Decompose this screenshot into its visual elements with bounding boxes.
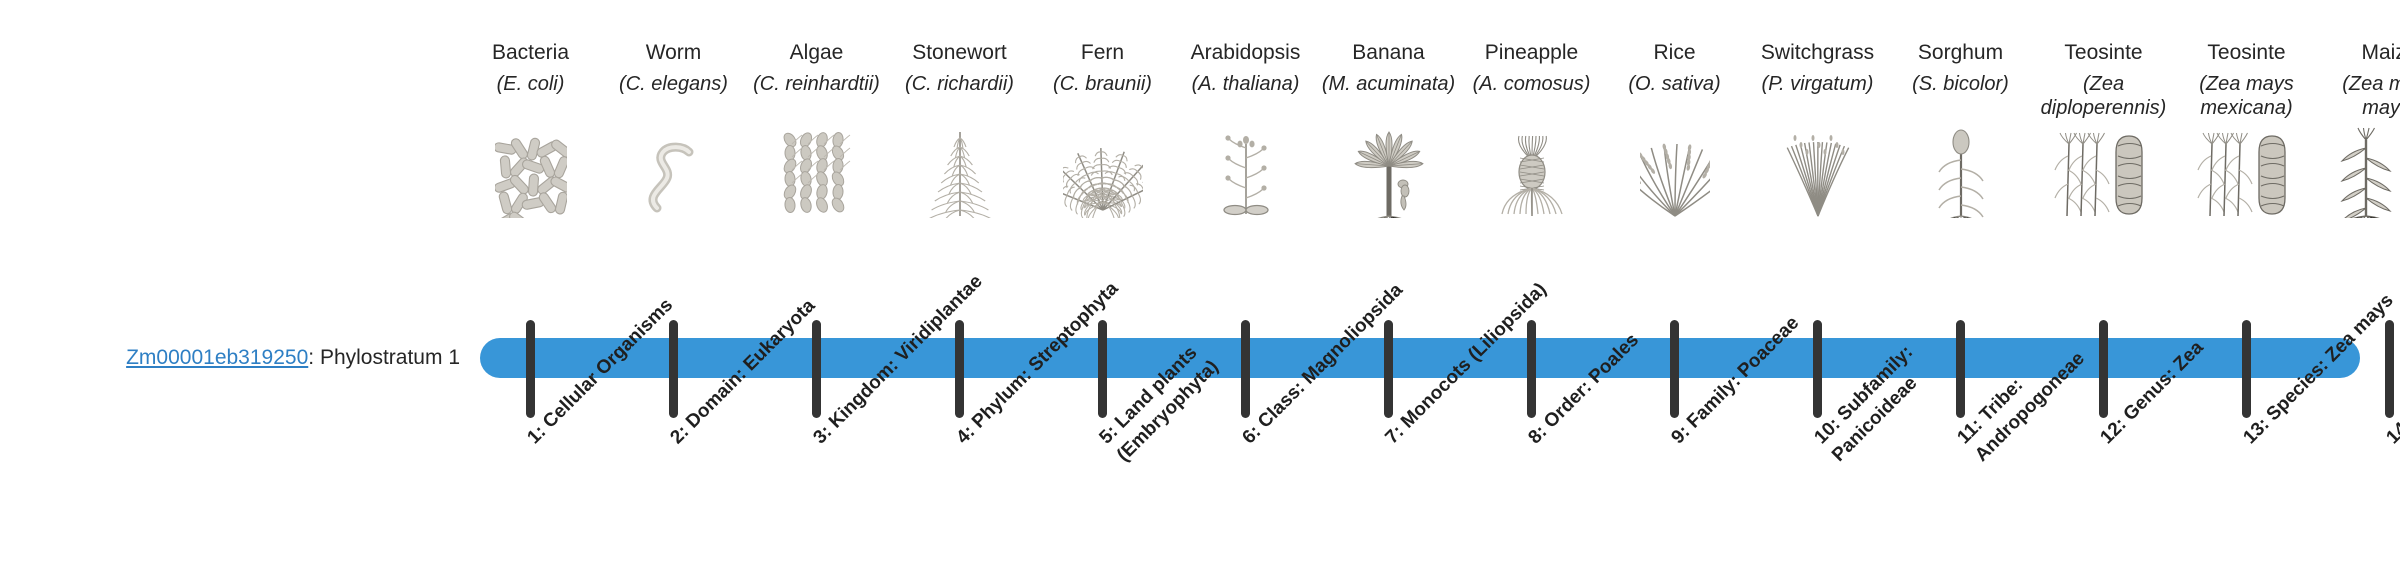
rice-icon bbox=[1603, 126, 1746, 218]
species-column: Pineapple(A. comosus) bbox=[1460, 40, 1603, 218]
maize-icon bbox=[2318, 126, 2400, 218]
species-column: Teosinte(Zea diploperennis) bbox=[2032, 40, 2175, 218]
teosinte-icon bbox=[2032, 126, 2175, 218]
species-column: Fern(C. braunii) bbox=[1031, 40, 1174, 218]
phylostratum-tick[interactable] bbox=[2242, 320, 2251, 418]
species-scientific-name: (Zea diploperennis) bbox=[2032, 68, 2175, 122]
phylostratum-tick[interactable] bbox=[1670, 320, 1679, 418]
species-common-name: Algae bbox=[745, 40, 888, 68]
worm-icon bbox=[602, 126, 745, 218]
species-scientific-name: (M. acuminata) bbox=[1317, 68, 1460, 122]
arabidopsis-icon bbox=[1174, 126, 1317, 218]
species-scientific-name: (P. virgatum) bbox=[1746, 68, 1889, 122]
species-common-name: Fern bbox=[1031, 40, 1174, 68]
switchgrass-icon bbox=[1746, 126, 1889, 218]
phylostratum-value: Phylostratum 1 bbox=[320, 346, 460, 369]
algae-icon bbox=[745, 126, 888, 218]
species-column: Rice(O. sativa) bbox=[1603, 40, 1746, 218]
species-common-name: Bacteria bbox=[459, 40, 602, 68]
species-scientific-name: (C. richardii) bbox=[888, 68, 1031, 122]
gene-label-separator: : bbox=[308, 346, 320, 369]
species-common-name: Rice bbox=[1603, 40, 1746, 68]
species-column: Banana(M. acuminata) bbox=[1317, 40, 1460, 218]
stonewort-icon bbox=[888, 126, 1031, 218]
species-common-name: Switchgrass bbox=[1746, 40, 1889, 68]
species-common-name: Teosinte bbox=[2175, 40, 2318, 68]
sorghum-icon bbox=[1889, 126, 2032, 218]
species-common-name: Stonewort bbox=[888, 40, 1031, 68]
species-column: Sorghum(S. bicolor) bbox=[1889, 40, 2032, 218]
phylostratigraphy-figure: Zm00001eb319250: Phylostratum 1 Bacteria… bbox=[0, 0, 2400, 580]
phylostratum-tick[interactable] bbox=[1813, 320, 1822, 418]
species-scientific-name: (C. reinhardtii) bbox=[745, 68, 888, 122]
species-scientific-name: (C. elegans) bbox=[602, 68, 745, 122]
pineapple-icon bbox=[1460, 126, 1603, 218]
species-scientific-name: (A. comosus) bbox=[1460, 68, 1603, 122]
species-scientific-name: (Zea mays mexicana) bbox=[2175, 68, 2318, 122]
species-scientific-name: (A. thaliana) bbox=[1174, 68, 1317, 122]
species-column: Switchgrass(P. virgatum) bbox=[1746, 40, 1889, 218]
species-column: Algae(C. reinhardtii) bbox=[745, 40, 888, 218]
phylostratum-tick[interactable] bbox=[1527, 320, 1536, 418]
species-scientific-name: (S. bicolor) bbox=[1889, 68, 2032, 122]
species-common-name: Banana bbox=[1317, 40, 1460, 68]
species-column: Teosinte(Zea mays mexicana) bbox=[2175, 40, 2318, 218]
banana-icon bbox=[1317, 126, 1460, 218]
species-common-name: Pineapple bbox=[1460, 40, 1603, 68]
bacteria-icon bbox=[459, 126, 602, 218]
phylostratum-tick[interactable] bbox=[669, 320, 678, 418]
phylostratum-tick[interactable] bbox=[1098, 320, 1107, 418]
gene-phylostratum-label: Zm00001eb319250: Phylostratum 1 bbox=[40, 345, 460, 371]
phylostratum-tick[interactable] bbox=[2385, 320, 2394, 418]
species-scientific-name: (C. braunii) bbox=[1031, 68, 1174, 122]
species-scientific-name: (E. coli) bbox=[459, 68, 602, 122]
phylostratum-tick[interactable] bbox=[812, 320, 821, 418]
species-scientific-name: (Zea mays mays) bbox=[2318, 68, 2400, 122]
phylostratum-tick[interactable] bbox=[1384, 320, 1393, 418]
species-common-name: Sorghum bbox=[1889, 40, 2032, 68]
species-common-name: Teosinte bbox=[2032, 40, 2175, 68]
species-common-name: Arabidopsis bbox=[1174, 40, 1317, 68]
fern-icon bbox=[1031, 126, 1174, 218]
phylostratum-tick[interactable] bbox=[955, 320, 964, 418]
species-scientific-name: (O. sativa) bbox=[1603, 68, 1746, 122]
teosinte-icon bbox=[2175, 126, 2318, 218]
species-column: Bacteria(E. coli) bbox=[459, 40, 602, 218]
species-column: Stonewort(C. richardii) bbox=[888, 40, 1031, 218]
species-column: Maize(Zea mays mays) bbox=[2318, 40, 2400, 218]
species-common-name: Maize bbox=[2318, 40, 2400, 68]
species-column: Worm(C. elegans) bbox=[602, 40, 745, 218]
species-column: Arabidopsis(A. thaliana) bbox=[1174, 40, 1317, 218]
species-common-name: Worm bbox=[602, 40, 745, 68]
phylostratum-tick[interactable] bbox=[526, 320, 535, 418]
gene-id-link[interactable]: Zm00001eb319250 bbox=[126, 346, 308, 369]
